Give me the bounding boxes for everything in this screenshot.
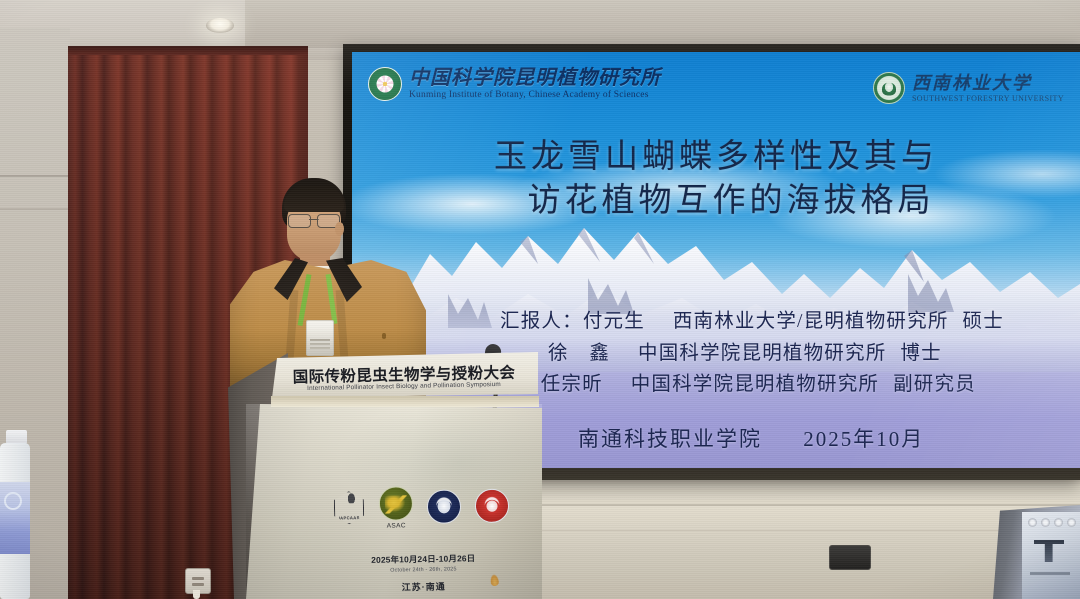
bottle-cap [6,430,27,444]
speaker-ear [335,222,344,236]
blue-circle-logo-icon [427,489,462,524]
swfu-name-en: SOUTHWEST FORESTRY UNIVERSITY [912,95,1064,103]
glasses-lens-left [288,214,311,228]
swfu-emblem-icon [873,72,905,104]
podium-trim-band [271,396,539,407]
swfu-name-cn: 西南林业大学 [912,74,1064,92]
slide-title-line-1: 玉龙雪山蝴蝶多样性及其与 [494,139,938,175]
credit-name: 付元生 [583,306,673,338]
tent-card-icon [1067,518,1076,527]
speaker-fringe [284,186,344,212]
red-circle-logo-icon [475,489,510,524]
kib-logo-text: 中国科学院昆明植物研究所 Kunming Institute of Botany… [409,68,661,101]
recessed-downlight-icon [206,18,234,33]
slide-venue: 南通科技职业学院 [578,427,762,451]
credit-affiliation: 中国科学院昆明植物研究所 [631,369,879,401]
credit-degree: 博士 [900,338,941,370]
tent-card-icon [1028,518,1037,527]
tent-card-icon [1041,518,1050,527]
iapcaas-hex-logo-icon: IAPCAAS [334,491,366,526]
bottle-label-mark [4,492,22,510]
asac-disc [379,486,414,521]
asac-logo-icon: ASAC [379,486,414,530]
southwest-forestry-university-logo: 西南林业大学 SOUTHWEST FORESTRY UNIVERSITY [873,72,1064,104]
credit-affiliation: 西南林业大学/昆明植物研究所 [673,306,949,338]
credit-degree: 硕士 [963,306,1004,338]
asac-label: ASAC [379,522,413,530]
tent-card-icon [1054,518,1063,527]
podium-sponsor-logos: IAPCAAS ASAC [334,482,515,531]
credit-name: 任宗昕 [541,369,631,401]
screenshot-root: 中国科学院昆明植物研究所 Kunming Institute of Botany… [0,0,1080,599]
kunming-institute-logo: 中国科学院昆明植物研究所 Kunming Institute of Botany… [368,67,661,101]
water-bottle [0,430,30,599]
tent-card-icon-row [1028,518,1076,527]
slide-title: 玉龙雪山蝴蝶多样性及其与 访花植物互作的海拔格局 [352,136,1080,223]
speaker-glasses-icon [288,214,340,226]
iapcaas-label: IAPCAAS [339,515,360,523]
credit-degree: 副研究员 [893,369,976,401]
kib-name-en: Kunming Institute of Botany, Chinese Aca… [409,91,661,101]
slide-date: 2025年10月 [803,427,924,451]
ceiling-recess [245,0,1080,48]
hexagon-outline: IAPCAAS [334,491,365,525]
wall-seam [0,175,70,177]
wall-seam-secondary [0,208,70,210]
kib-flower-emblem-icon [368,67,402,101]
slide-title-line-2: 访花植物互作的海拔格局 [352,180,1080,224]
outlet-plug [193,590,200,599]
wall-socket-dark [829,545,871,570]
credit-name: 徐 鑫 [548,338,638,370]
swfu-logo-text: 西南林业大学 SOUTHWEST FORESTRY UNIVERSITY [912,74,1064,103]
tent-card-text-bar [1030,572,1070,575]
credit-affiliation: 中国科学院昆明植物研究所 [638,338,886,370]
kib-name-cn: 中国科学院昆明植物研究所 [409,68,661,88]
credit-row: 汇报人： 付元生 西南林业大学/昆明植物研究所 硕士 [352,306,1080,338]
podium-date-block: 2025年10月24日-10月26日 October 24th - 26th, … [306,551,542,595]
credit-role: 汇报人： [500,306,583,338]
